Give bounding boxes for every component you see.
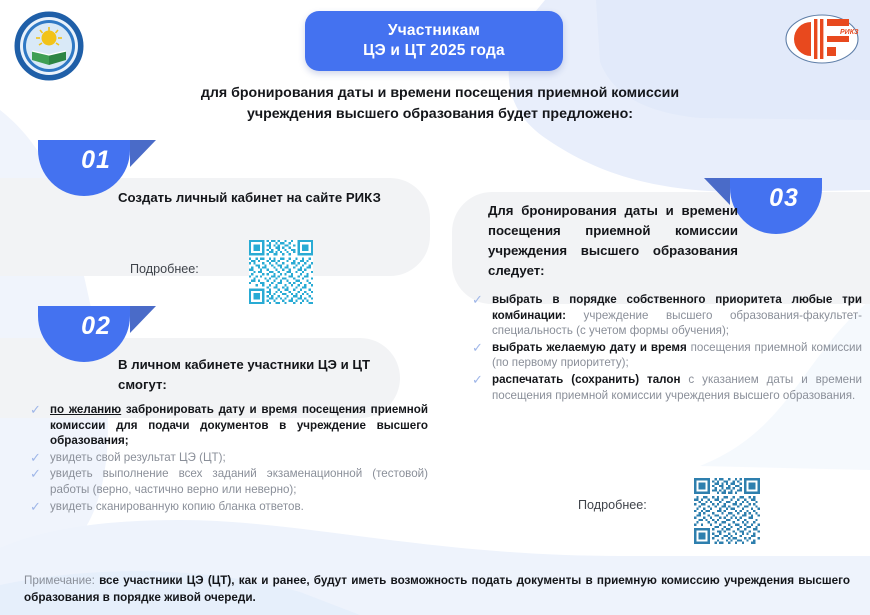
header-title-line2: ЦЭ и ЦТ 2025 года: [363, 41, 505, 61]
rikz-logo-icon: РИКЗ: [784, 13, 860, 65]
step-01-qr-code[interactable]: [249, 240, 313, 304]
step-03-more-label: Подробнее:: [578, 498, 647, 512]
checkmark-icon: ✓: [472, 293, 485, 306]
step-02-title: В личном кабинете участники ЦЭ и ЦТ смог…: [118, 355, 408, 395]
step-02-bullet-2-text: увидеть выполнение всех заданий экзамена…: [50, 467, 428, 496]
rikz-logo-label: РИКЗ: [840, 29, 859, 36]
checkmark-icon: ✓: [30, 403, 43, 416]
step-03-bullet-2-bold: распечатать (сохранить) талон: [492, 373, 680, 386]
step-03-bullet-1-bold: выбрать желаемую дату и время: [492, 341, 687, 354]
list-item: ✓ распечатать (сохранить) талон с указан…: [472, 372, 862, 403]
infographic-poster: РИКЗ Участникам ЦЭ и ЦТ 2025 года для бр…: [0, 0, 870, 615]
subtitle-line-1: для бронирования даты и времени посещени…: [160, 83, 720, 104]
list-item: ✓ увидеть свой результат ЦЭ (ЦТ);: [30, 450, 428, 466]
step-01-number: 01: [50, 146, 142, 175]
checkmark-icon: ✓: [30, 467, 43, 480]
list-item: ✓ выбрать в порядке собственного приорит…: [472, 292, 862, 339]
page-subtitle: для бронирования даты и времени посещени…: [160, 83, 720, 125]
checkmark-icon: ✓: [30, 451, 43, 464]
list-item: ✓ выбрать желаемую дату и время посещени…: [472, 340, 862, 371]
step-01-more-label: Подробнее:: [130, 262, 199, 276]
list-item: ✓ по желанию забронировать дату и время …: [30, 402, 428, 449]
header-title-badge: Участникам ЦЭ и ЦТ 2025 года: [305, 11, 563, 71]
footer-note: Примечание: все участники ЦЭ (ЦТ), как и…: [24, 572, 850, 606]
list-item: ✓ увидеть выполнение всех заданий экзаме…: [30, 466, 428, 497]
step-03-bullet-list: ✓ выбрать в порядке собственного приорит…: [472, 292, 862, 404]
subtitle-line-2: учреждения высшего образования будет пре…: [160, 104, 720, 125]
checkmark-icon: ✓: [472, 341, 485, 354]
step-03-title: Для бронирования даты и времени посещени…: [488, 201, 738, 281]
step-02-number-badge: 02: [38, 306, 148, 362]
step-02-bullet-3-text: увидеть сканированную копию бланка ответ…: [50, 500, 304, 513]
footer-note-text: все участники ЦЭ (ЦТ), как и ранее, буду…: [24, 574, 850, 604]
checkmark-icon: ✓: [472, 373, 485, 386]
checkmark-icon: ✓: [30, 500, 43, 513]
ministry-emblem-icon: [12, 9, 86, 83]
step-03-qr-code[interactable]: [694, 478, 760, 544]
step-01-title: Создать личный кабинет на сайте РИКЗ: [118, 188, 418, 208]
header-title-line1: Участникам: [388, 21, 480, 41]
step-02-bullet-0-underline: по желанию: [50, 403, 121, 416]
list-item: ✓ увидеть сканированную копию бланка отв…: [30, 499, 428, 515]
step-02-number: 02: [50, 312, 142, 341]
step-02-bullet-list: ✓ по желанию забронировать дату и время …: [30, 402, 428, 515]
step-03-number: 03: [738, 184, 830, 213]
step-02-bullet-1-text: увидеть свой результат ЦЭ (ЦТ);: [50, 451, 226, 464]
footer-note-lead: Примечание:: [24, 574, 95, 587]
